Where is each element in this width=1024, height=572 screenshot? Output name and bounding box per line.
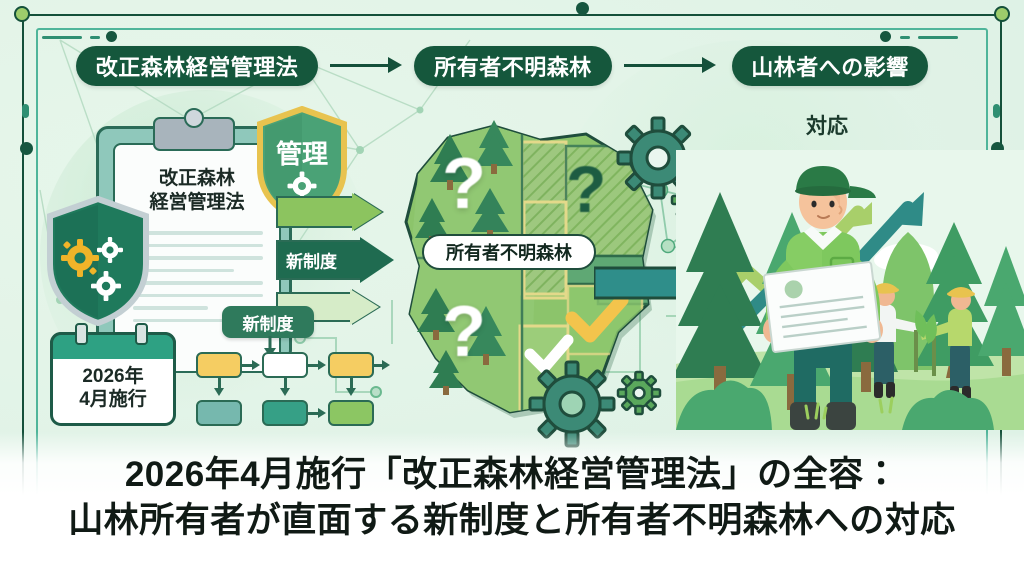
corner-node-top-right [994,6,1010,22]
header-step-1-label: 改正森林経営管理法 [96,50,299,82]
header-step-1[interactable]: 改正森林経営管理法 [76,46,318,86]
calendar-ring-right-icon [135,323,148,345]
footer-title: 2026年4月施行「改正森林経営管理法」の全容： 山林所有者が直面する新制度と所… [0,452,1024,544]
arrow-dark-middle-icon: 新制度 [276,240,400,280]
flow-box-1 [196,352,242,378]
response-label: 対応 [806,110,848,140]
forest-worker-scene [676,150,1024,430]
map-question-mark-2-icon: ? [566,156,606,222]
flow-box-3 [328,352,374,378]
frame-tick-left [22,104,29,118]
frame-dot-tr [880,31,891,42]
header-arrow-1-icon [330,55,404,77]
map-question-mark-3-icon: ? [442,296,486,368]
flow-arrow-v2-icon [280,388,290,396]
new-system-tag[interactable]: 新制度 [222,306,314,338]
arrow-light-top-icon [276,196,388,228]
frame-dash-tl-a [42,36,82,39]
frame-dash-tr-a [918,36,958,39]
unknown-owner-forest-label[interactable]: 所有者不明森林 [422,234,596,270]
frame-dot-tl [106,31,117,42]
flow-box-6 [328,400,374,426]
corner-node-top-left [14,6,30,22]
flow-arrow-v1-icon [214,388,224,396]
arrow-new-system-label: 新制度 [286,248,337,273]
flow-box-5 [262,400,308,426]
infographic-canvas: 改正森林経営管理法 所有者不明森林 山林者への影響 改正森林 経営管理法 [0,0,1024,572]
gear-shield-icon [44,196,152,326]
gear-bottom-small-icon [614,368,664,418]
worker-document-icon [764,262,881,353]
response-label-text: 対応 [806,115,848,138]
header-step-2-label: 所有者不明森林 [434,50,592,82]
unknown-owner-forest-text: 所有者不明森林 [446,239,572,265]
calendar-line2: 4月施行 [53,388,173,411]
effective-date-calendar: 2026年 4月施行 [50,332,176,426]
footer-title-line2: 山林所有者が直面する新制度と所有者不明森林への対応 [0,498,1024,544]
flow-box-4 [196,400,242,426]
frame-dash-tr-b [900,36,910,39]
header-step-3[interactable]: 山林者への影響 [732,46,928,86]
calendar-text: 2026年 4月施行 [53,365,173,411]
header-arrow-2-icon [624,55,720,77]
flow-arrow-h3-icon [382,360,390,370]
manage-shield-label: 管理 [256,134,348,171]
flow-arrow-h4-icon [318,408,326,418]
calendar-line1: 2026年 [53,365,173,388]
map-question-mark-1-icon: ? [442,148,486,220]
frame-tick-right [993,104,1000,118]
flow-arrow-v3-icon [346,388,356,396]
calendar-header-bar [50,332,176,359]
process-flow-diagram [196,352,376,424]
header-step-3-label: 山林者への影響 [751,50,909,82]
flow-arrow-h2-icon [318,360,326,370]
frame-dot-top-center [576,2,589,15]
clipboard-clamp-icon [153,117,235,151]
flow-arrow-h1-icon [252,360,260,370]
new-system-tag-label: 新制度 [243,310,294,335]
header-step-2[interactable]: 所有者不明森林 [414,46,612,86]
flow-box-2 [262,352,308,378]
frame-dot-left [20,142,33,155]
calendar-ring-left-icon [75,323,88,345]
frame-dash-tl-b [90,36,100,39]
footer-title-line1: 2026年4月施行「改正森林経営管理法」の全容： [0,452,1024,498]
clipboard-title-line1: 改正森林 [115,167,279,191]
